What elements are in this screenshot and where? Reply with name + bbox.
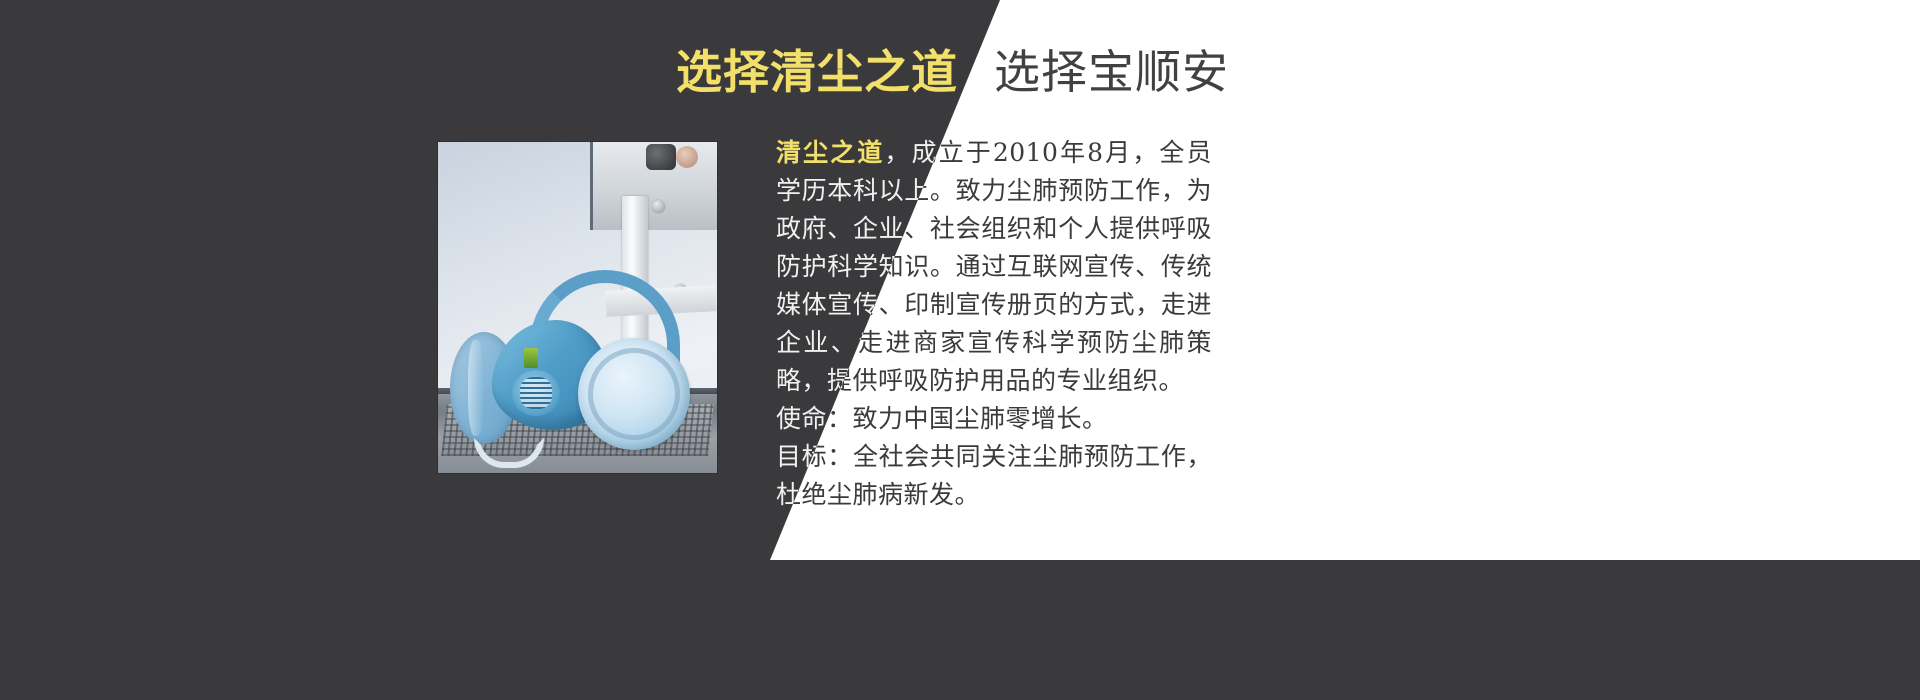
intro-lead: 清尘之道 xyxy=(776,138,884,167)
page-title-accent: 选择清尘之道 xyxy=(676,45,958,99)
mission-body: 致力中国尘肺零增长。 xyxy=(853,404,1108,433)
page-title-plain: 选择宝顺安 xyxy=(994,45,1229,99)
banner: 选择清尘之道选择宝顺安 清尘之道，成立于2010年8月，全员学历本科以上。致力尘… xyxy=(0,0,1920,700)
goal-paragraph: 目标：全社会共同关注尘肺预防工作，杜绝尘肺病新发。 xyxy=(776,438,1212,514)
mission-paragraph: 使命：致力中国尘肺零增长。 xyxy=(776,400,1212,438)
